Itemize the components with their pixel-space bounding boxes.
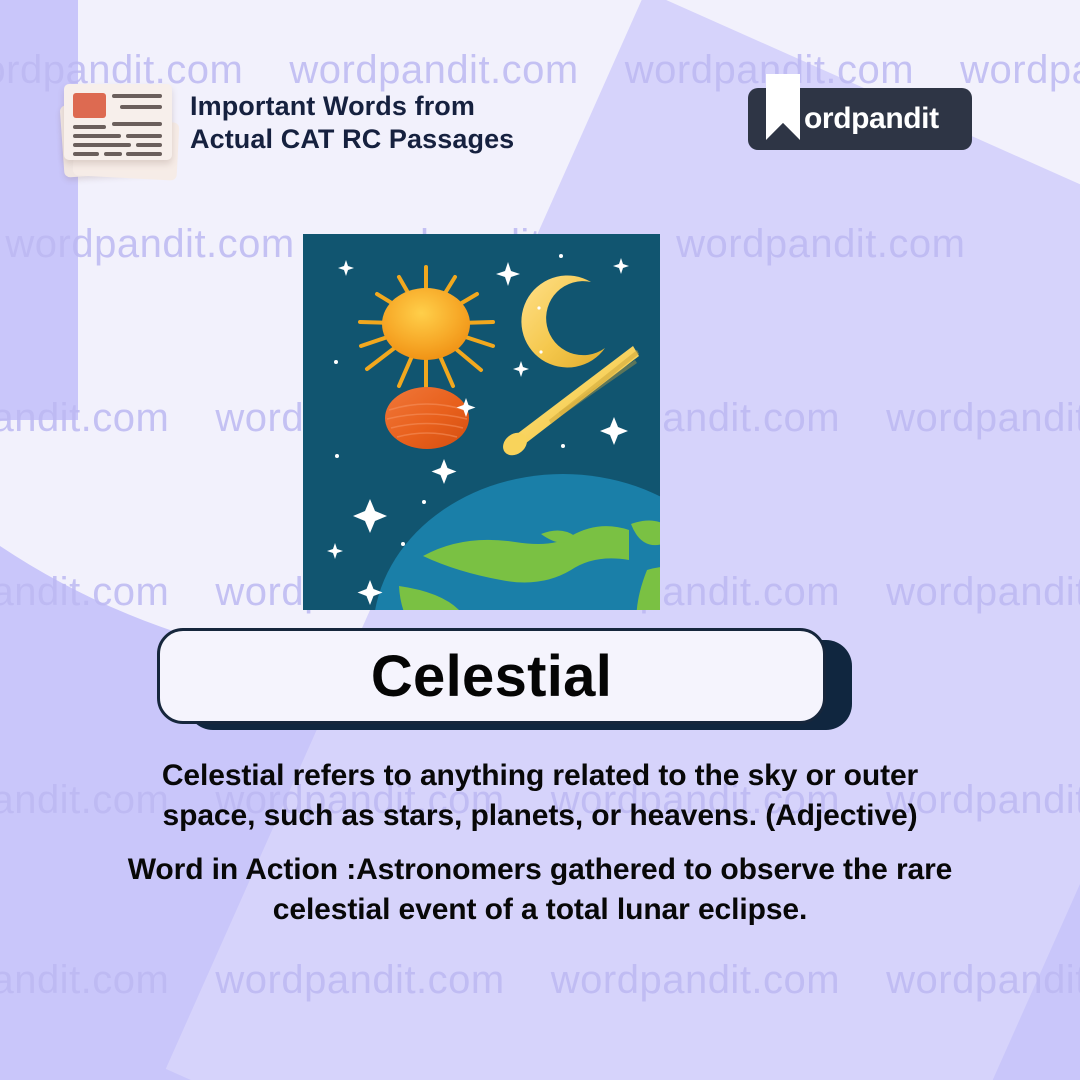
- poster-canvas: wordpandit.comwordpandit.comwordpandit.c…: [0, 0, 1080, 1080]
- word-label: Celestial: [371, 643, 612, 710]
- wordpandit-logo[interactable]: ordpandit: [748, 88, 972, 150]
- bookmark-ribbon-icon: [766, 74, 800, 140]
- page-title-line1: Important Words from: [190, 91, 475, 121]
- newspaper-photo-block: [73, 93, 106, 118]
- newspaper-icon: [52, 76, 180, 180]
- page-title-line2: Actual CAT RC Passages: [190, 123, 514, 156]
- logo-text: ordpandit: [804, 102, 939, 136]
- word-card: Celestial: [157, 628, 852, 730]
- celestial-space-illustration: [303, 234, 660, 610]
- definition-block: Celestial refers to anything related to …: [0, 756, 1080, 930]
- word-in-action-line-2: celestial event of a total lunar eclipse…: [0, 890, 1080, 930]
- definition-line-1: Celestial refers to anything related to …: [0, 756, 1080, 796]
- page-header: Important Words from Actual CAT RC Passa…: [0, 0, 1080, 190]
- definition-line-2: space, such as stars, planets, or heaven…: [0, 796, 1080, 836]
- newspaper-front-sheet: [64, 84, 172, 160]
- word-in-action-line-1: Word in Action :Astronomers gathered to …: [0, 850, 1080, 890]
- page-title: Important Words from Actual CAT RC Passa…: [190, 90, 514, 156]
- watermark-text: wordpandit.com: [0, 958, 169, 1002]
- word-card-face: Celestial: [157, 628, 826, 724]
